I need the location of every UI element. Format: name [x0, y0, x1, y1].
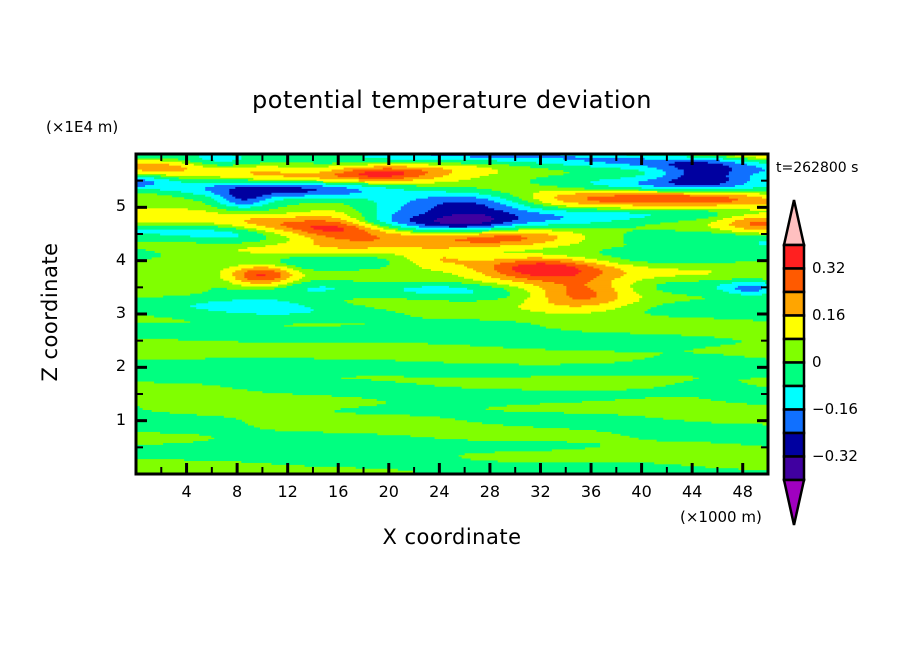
y-tick-label: 1: [96, 410, 126, 429]
x-tick-label: 16: [318, 482, 358, 501]
x-tick-label: 28: [470, 482, 510, 501]
colorbar-tick-label: 0: [812, 353, 822, 371]
colorbar-tick-label: 0.16: [812, 306, 845, 324]
x-tick-label: 4: [167, 482, 207, 501]
x-tick-label: 8: [217, 482, 257, 501]
y-tick-label: 3: [96, 303, 126, 322]
x-axis-title: X coordinate: [0, 525, 904, 549]
x-tick-label: 12: [268, 482, 308, 501]
colorbar-tick-label: −0.32: [812, 447, 858, 465]
x-tick-label: 40: [622, 482, 662, 501]
x-tick-label: 36: [571, 482, 611, 501]
y-axis-unit-label: (×1E4 m): [46, 118, 118, 136]
x-axis-unit-label: (×1000 m): [680, 508, 762, 526]
colorbar: [784, 200, 804, 525]
contour-field: [136, 154, 769, 475]
x-tick-label: 48: [723, 482, 763, 501]
y-tick-label: 2: [96, 356, 126, 375]
x-tick-label: 44: [672, 482, 712, 501]
time-annotation: t=262800 s: [776, 160, 858, 176]
y-tick-label: 5: [96, 196, 126, 215]
x-tick-label: 20: [369, 482, 409, 501]
x-tick-label: 24: [419, 482, 459, 501]
x-tick-label: 32: [520, 482, 560, 501]
y-tick-label: 4: [96, 250, 126, 269]
page-title: potential temperature deviation: [0, 86, 904, 114]
y-axis-title: Z coordinate: [38, 232, 62, 392]
colorbar-tick-label: −0.16: [812, 400, 858, 418]
colorbar-tick-label: 0.32: [812, 259, 845, 277]
